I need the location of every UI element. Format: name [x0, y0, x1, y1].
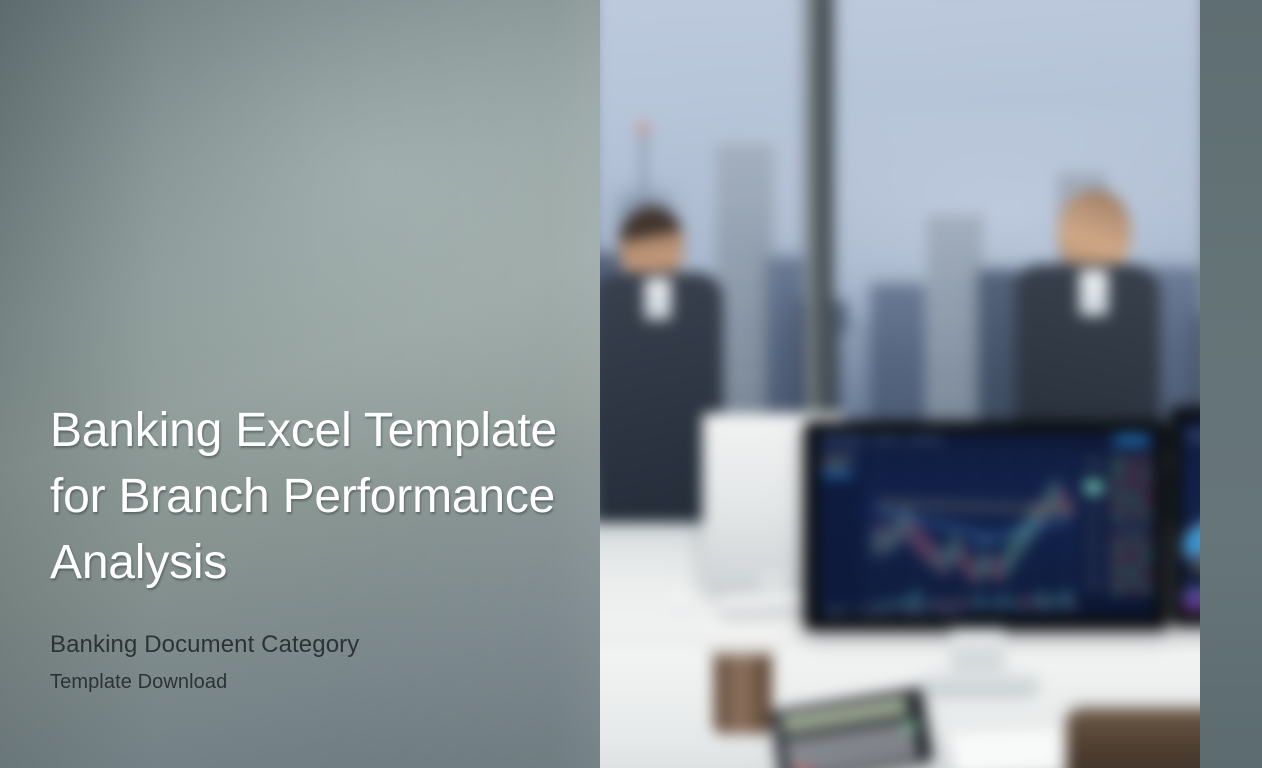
page-title-line-1: Banking Excel Template: [50, 404, 557, 457]
monitor-1-foot: [918, 670, 1040, 699]
page-title-line-3: Analysis: [50, 536, 227, 589]
trading-monitor-1-screen: [818, 434, 1153, 616]
coffee-cup-lid: [707, 632, 779, 655]
mouse: [665, 595, 696, 613]
template-download-caption: Template Download: [50, 669, 570, 695]
title-slide: Banking Excel Template for Branch Perfor…: [0, 0, 1262, 768]
interior-wall-right: [1200, 0, 1262, 768]
coffee-cup: [714, 649, 772, 734]
window-mullion-center: [806, 0, 833, 473]
document-category: Banking Document Category: [50, 630, 570, 660]
trading-monitor-1: [804, 421, 1168, 630]
page-title-line-2: for Branch Performance: [50, 470, 555, 523]
page-title: Banking Excel Template for Branch Perfor…: [50, 398, 570, 596]
title-text-block: Banking Excel Template for Branch Perfor…: [50, 398, 570, 695]
desk-edge: [558, 636, 1262, 641]
